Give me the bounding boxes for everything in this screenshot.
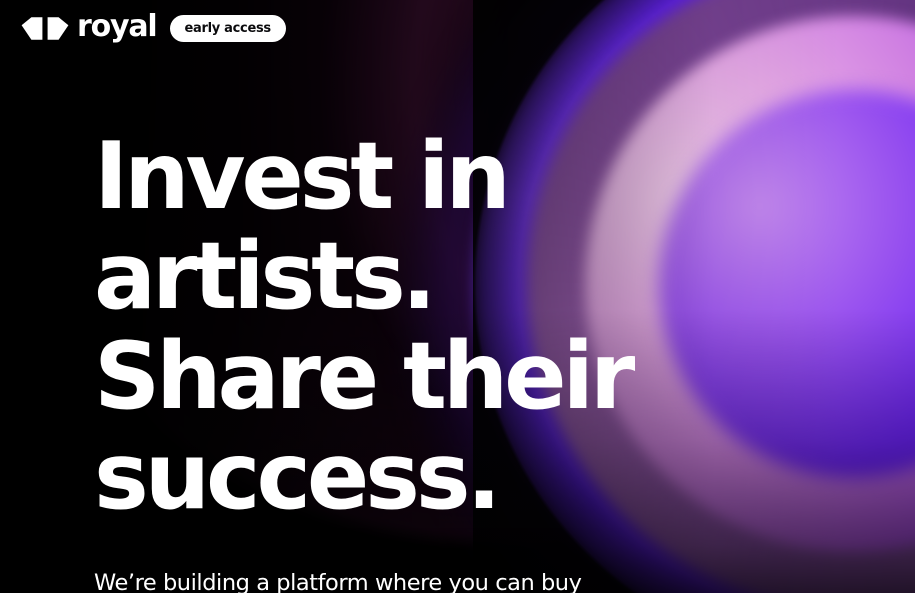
- brand-logo-link[interactable]: royal: [21, 13, 157, 43]
- hero-content: royal early access Invest in artists. Sh…: [0, 0, 915, 593]
- brand-wordmark: royal: [77, 12, 157, 42]
- hero-section: royal early access Invest in artists. Sh…: [0, 0, 915, 593]
- site-header: royal early access: [21, 13, 286, 43]
- royal-diamond-mark-icon: [21, 16, 69, 41]
- hero-subcopy: We’re building a platform where you can …: [94, 565, 694, 593]
- early-access-badge[interactable]: early access: [170, 15, 286, 42]
- hero-headline: Invest in artists. Share their success.: [94, 126, 807, 526]
- hero-copy-block: Invest in artists. Share their success. …: [94, 126, 814, 593]
